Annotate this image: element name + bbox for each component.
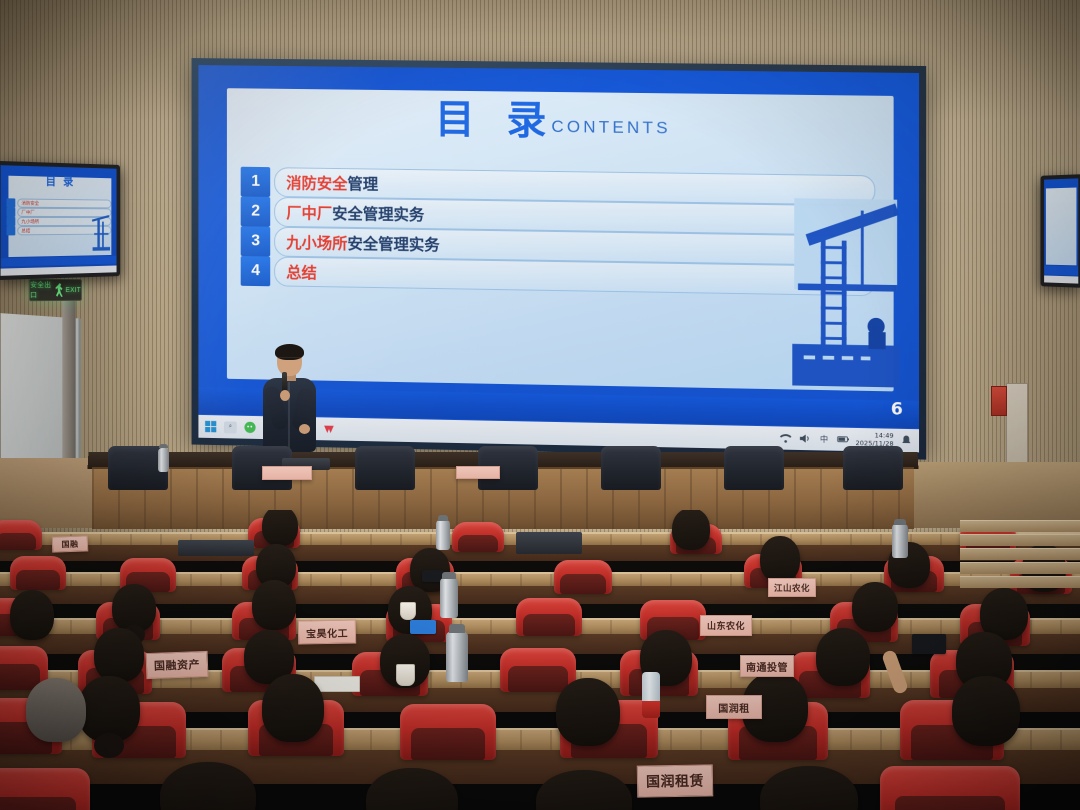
smartphone-recording[interactable] bbox=[912, 634, 946, 654]
wechat-icon[interactable] bbox=[244, 421, 257, 434]
confidence-monitor-left: 目 录 消防安全 厂中厂 九小场所 总结 bbox=[0, 161, 120, 280]
search-icon: ⌕ bbox=[229, 424, 232, 431]
running-man-icon bbox=[55, 283, 64, 297]
mini-toc-number bbox=[7, 198, 16, 207]
fire-alarm-box bbox=[991, 386, 1007, 416]
audience-head bbox=[262, 510, 298, 546]
chair[interactable] bbox=[500, 648, 576, 692]
app-red2-icon[interactable] bbox=[323, 423, 336, 436]
taskbar-search-box[interactable]: ⌕ bbox=[224, 421, 237, 433]
chair[interactable] bbox=[10, 556, 66, 590]
stage-chair[interactable] bbox=[601, 446, 661, 490]
table-nameplate: 山东农化 bbox=[700, 615, 752, 636]
slide-title: 目 录 CONTENTS bbox=[198, 84, 919, 151]
toc-item-highlight: 消防安全 bbox=[286, 171, 347, 194]
stage-chair[interactable] bbox=[355, 446, 415, 490]
confidence-monitor-right bbox=[1041, 174, 1080, 288]
network-icon[interactable] bbox=[779, 432, 792, 445]
chair[interactable] bbox=[880, 766, 1020, 810]
vacuum-thermos bbox=[440, 578, 458, 618]
presenter-hand-holding-mic bbox=[280, 390, 290, 401]
mini-toc-number bbox=[7, 208, 16, 217]
battery-icon[interactable] bbox=[836, 433, 849, 446]
notification-icon[interactable] bbox=[900, 434, 913, 447]
audience-head bbox=[852, 582, 898, 632]
toc-item-number: 2 bbox=[241, 196, 271, 226]
chair[interactable] bbox=[452, 522, 504, 552]
mini-slide-left: 目 录 消防安全 厂中厂 九小场所 总结 bbox=[1, 165, 117, 276]
mini-crane-icon bbox=[88, 210, 112, 254]
vacuum-thermos bbox=[892, 524, 908, 558]
toc-item-rest: 管理 bbox=[347, 172, 378, 194]
chair[interactable] bbox=[0, 768, 90, 810]
audience-head bbox=[252, 580, 296, 630]
audience-head bbox=[672, 510, 710, 550]
tower-crane-icon bbox=[787, 196, 904, 387]
audience-head bbox=[94, 628, 144, 682]
audience-head bbox=[952, 676, 1020, 746]
mini-toc-number bbox=[7, 226, 16, 235]
toc-item-rest: 安全管理实务 bbox=[347, 231, 439, 254]
table-nameplate: 国融 bbox=[52, 535, 89, 552]
table-nameplate: 宝昊化工 bbox=[298, 619, 356, 644]
aisle-stairs bbox=[960, 520, 1080, 610]
toc-item-highlight: 九小场所 bbox=[286, 230, 347, 253]
volume-icon[interactable] bbox=[798, 432, 811, 445]
laptop[interactable] bbox=[178, 540, 254, 556]
smartphone[interactable] bbox=[410, 620, 436, 634]
vacuum-thermos bbox=[436, 520, 450, 550]
table-nameplate: 江山农化 bbox=[768, 578, 816, 597]
table-nameplate: 南通投管 bbox=[740, 655, 794, 677]
mini-toc-number bbox=[7, 217, 16, 226]
audience-head bbox=[760, 536, 800, 582]
audience-head bbox=[26, 678, 86, 742]
nameplate bbox=[262, 466, 312, 480]
mini-taskbar bbox=[1, 265, 117, 276]
mini-slide-card bbox=[1046, 188, 1076, 266]
exit-sign-label-cn: 安全出口 bbox=[30, 280, 53, 300]
water-bottle bbox=[642, 672, 660, 718]
glasses-icon bbox=[278, 357, 301, 361]
audience-head bbox=[112, 584, 156, 632]
toc-item-number: 4 bbox=[241, 256, 271, 286]
audience-head bbox=[556, 678, 620, 746]
slide-title-en: CONTENTS bbox=[551, 117, 670, 139]
vacuum-thermos bbox=[446, 632, 468, 682]
toc-item-rest: 安全管理实务 bbox=[332, 201, 424, 224]
paper-cup bbox=[400, 602, 416, 620]
audience-head bbox=[262, 674, 324, 742]
mini-slide-title: 目 录 bbox=[1, 172, 117, 191]
vacuum-thermos bbox=[158, 448, 169, 472]
mini-taskbar bbox=[1044, 275, 1078, 283]
table-of-contents: 1 消防安全管理 2 厂中厂安全管理实务 3 九小 bbox=[241, 166, 875, 296]
stage-chair[interactable] bbox=[724, 446, 784, 490]
audience-head bbox=[78, 676, 140, 742]
chair[interactable] bbox=[0, 520, 42, 550]
table-nameplate: 国润租赁 bbox=[637, 764, 714, 797]
notebook bbox=[314, 676, 360, 692]
toc-item-highlight: 厂中厂 bbox=[286, 201, 332, 224]
toc-item-number: 3 bbox=[241, 226, 271, 256]
auditorium-photo: 安全出口 EXIT 目 录 消防安全 厂中厂 九小场所 总结 bbox=[0, 0, 1080, 810]
laptop[interactable] bbox=[516, 532, 582, 554]
table-nameplate: 国润租 bbox=[706, 695, 762, 719]
slide-page-number: 6 bbox=[891, 399, 903, 419]
toc-item-highlight: 总结 bbox=[286, 260, 317, 282]
presenter-hand bbox=[299, 424, 310, 434]
svg-text:中: 中 bbox=[820, 434, 828, 444]
paper-cup bbox=[396, 664, 415, 686]
chair[interactable] bbox=[516, 598, 582, 636]
mini-slide-right bbox=[1044, 178, 1078, 283]
toc-item-number: 1 bbox=[241, 166, 271, 196]
nameplate bbox=[456, 466, 500, 479]
audience-head bbox=[10, 590, 54, 640]
windows-start-icon[interactable] bbox=[204, 420, 217, 433]
table-nameplate: 国融资产 bbox=[146, 651, 209, 679]
slide-title-cn: 目 录 bbox=[435, 86, 556, 145]
stage-chair[interactable] bbox=[843, 446, 903, 490]
emergency-exit-sign: 安全出口 EXIT bbox=[29, 279, 82, 301]
exit-sign-label-en: EXIT bbox=[66, 287, 81, 294]
audience-head bbox=[816, 628, 870, 686]
chair[interactable] bbox=[400, 704, 496, 760]
mini-slide-band bbox=[1044, 266, 1078, 275]
ime-icon[interactable]: 中 bbox=[817, 432, 830, 445]
chair[interactable] bbox=[554, 560, 612, 594]
